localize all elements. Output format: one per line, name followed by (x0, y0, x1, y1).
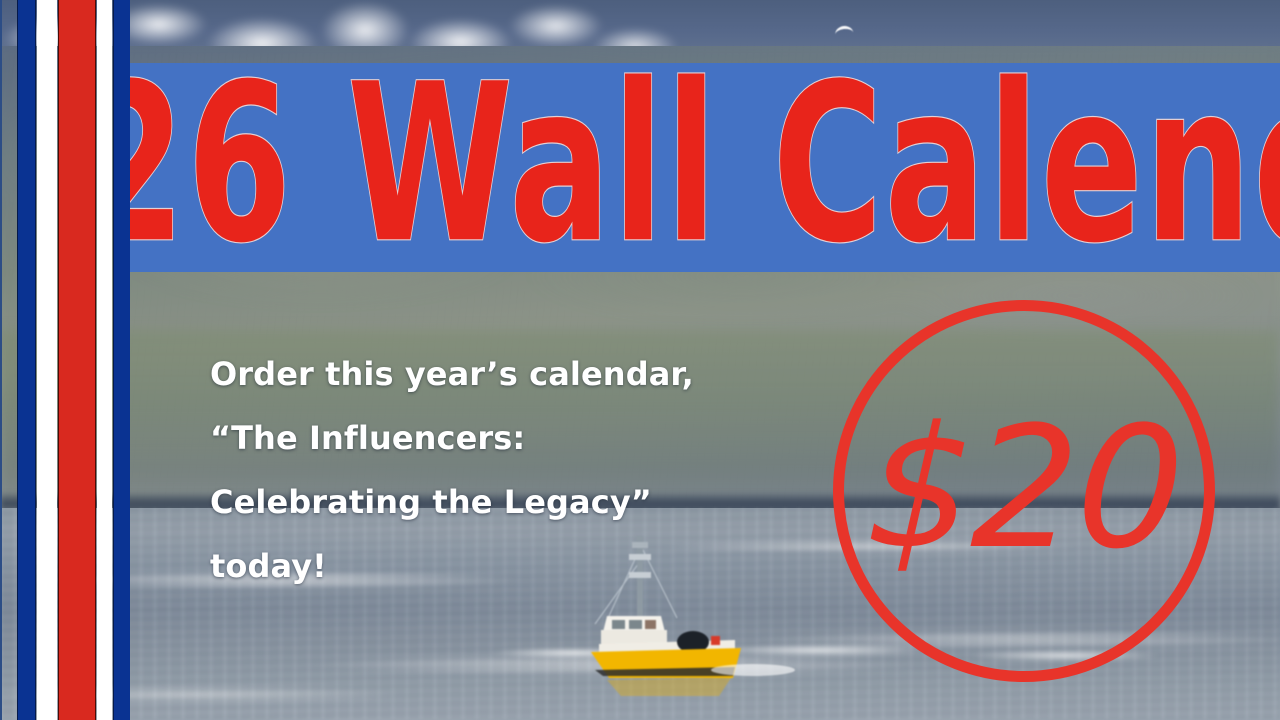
title-banner: 2026 Wall Calendar (130, 63, 1280, 272)
body-copy: Order this year’s calendar, “The Influen… (210, 342, 830, 598)
price-amount: $20 (864, 404, 1185, 572)
left-stripe-border (0, 0, 130, 720)
stripe-white-1 (37, 0, 57, 720)
stripe-navy-1 (17, 0, 36, 720)
body-line-3: Celebrating the Legacy” (210, 470, 830, 534)
stripe-white-2 (97, 0, 112, 720)
page-title: 2026 Wall Calendar (130, 76, 1280, 255)
body-line-1: Order this year’s calendar, (210, 342, 830, 406)
body-line-4: today! (210, 534, 830, 598)
stripe-red (58, 0, 96, 720)
stripe-navy-2 (113, 0, 130, 720)
slide-canvas: 2026 Wall Calendar Order this year’s cal… (0, 0, 1280, 720)
stripe-edge-blue (0, 0, 2, 720)
body-line-2: “The Influencers: (210, 406, 830, 470)
price-badge: $20 (833, 300, 1215, 682)
